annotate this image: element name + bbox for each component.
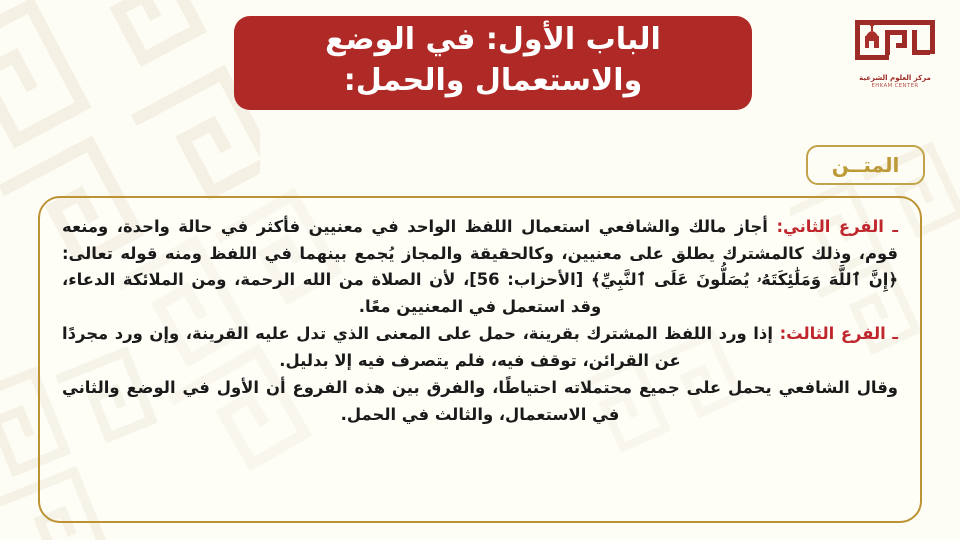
- section-tab-label: المتــن: [832, 153, 900, 177]
- section-tab-matn[interactable]: المتــن: [806, 145, 925, 185]
- paragraph-body: إذا ورد اللفظ المشترك بقرينة، حمل على ال…: [62, 324, 780, 370]
- paragraph-body: وقال الشافعي يحمل على جميع محتملاته احتي…: [62, 378, 898, 424]
- matn-content-box: ـ الفرع الثاني: أجاز مالك والشافعي استعم…: [38, 196, 922, 523]
- logo-subtitle: مركز العلوم الشرعية: [859, 74, 931, 82]
- ihkam-wordmark-icon: [849, 14, 941, 72]
- page-title: الباب الأول: في الوضع والاستعمال والحمل:: [252, 19, 734, 102]
- quran-reference: [الأحزاب: 56]،: [463, 270, 591, 289]
- slide-title-banner: الباب الأول: في الوضع والاستعمال والحمل:: [234, 16, 752, 110]
- paragraph-body: أجاز مالك والشافعي استعمال اللفظ الواحد …: [62, 217, 898, 263]
- brand-logo: مركز العلوم الشرعية EHKAM CENTER: [842, 14, 948, 100]
- paragraph-closing: وقال الشافعي يحمل على جميع محتملاته احتي…: [62, 375, 898, 428]
- quran-verse: ﴿إِنَّ ٱللَّهَ وَمَلَٰئِكَتَهُۥ يُصَلُّو…: [591, 270, 898, 289]
- paragraph-lead-label: ـ الفرع الثاني:: [776, 217, 898, 236]
- paragraph-far3-thalith: ـ الفرع الثالث: إذا ورد اللفظ المشترك بق…: [62, 321, 898, 374]
- paragraph-lead-label: ـ الفرع الثالث:: [780, 324, 898, 343]
- logo-subtitle-latin: EHKAM CENTER: [871, 83, 918, 89]
- slide-root: الباب الأول: في الوضع والاستعمال والحمل:: [0, 0, 960, 540]
- paragraph-far3-thani: ـ الفرع الثاني: أجاز مالك والشافعي استعم…: [62, 214, 898, 320]
